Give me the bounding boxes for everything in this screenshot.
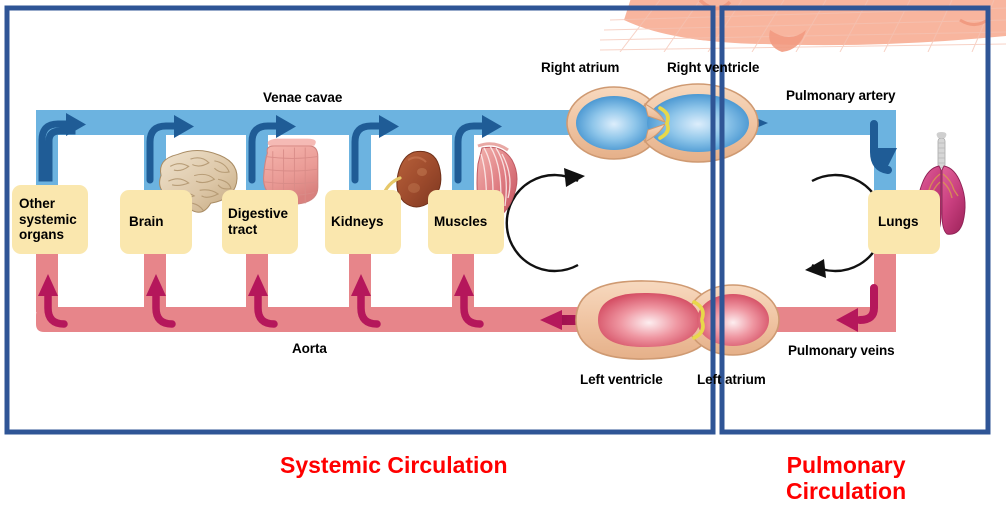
pulmonary-flow-arrowhead — [805, 259, 826, 278]
left-ventricle-chamber — [598, 293, 700, 347]
organ-label-other-systemic-organs: Other systemic organs — [19, 196, 89, 243]
right-heart — [567, 84, 758, 162]
label-aorta: Aorta — [292, 341, 327, 356]
diagram-canvas — [0, 0, 1006, 519]
circulation-diagram: Venae cavae Aorta Pulmonary artery Pulmo… — [0, 0, 1006, 519]
right-atrium-chamber — [576, 96, 652, 150]
organ-label-kidneys: Kidneys — [331, 214, 405, 230]
left-atrium-chamber — [697, 294, 769, 346]
label-pulmonary-veins: Pulmonary veins — [788, 343, 895, 358]
organ-label-lungs: Lungs — [878, 214, 944, 230]
vein-arrow-other — [42, 113, 86, 178]
organ-label-muscles: Muscles — [434, 214, 508, 230]
label-right-ventricle: Right ventricle — [667, 60, 759, 75]
label-left-ventricle: Left ventricle — [580, 372, 663, 387]
label-venae-cavae: Venae cavae — [263, 90, 342, 105]
flow-direction-arrows — [507, 168, 883, 278]
label-left-atrium: Left atrium — [697, 372, 766, 387]
systemic-flow-arrowhead — [564, 168, 585, 187]
organ-label-digestive-tract: Digestive tract — [228, 206, 302, 237]
systemic-flow-arc — [507, 175, 578, 271]
organ-label-brain: Brain — [129, 214, 195, 230]
left-heart — [576, 281, 779, 359]
label-right-atrium: Right atrium — [541, 60, 619, 75]
caption-pulmonary-circulation: Pulmonary Circulation — [786, 452, 906, 504]
caption-systemic-circulation: Systemic Circulation — [280, 452, 508, 478]
right-ventricle-chamber — [647, 94, 749, 152]
label-pulmonary-artery: Pulmonary artery — [786, 88, 895, 103]
